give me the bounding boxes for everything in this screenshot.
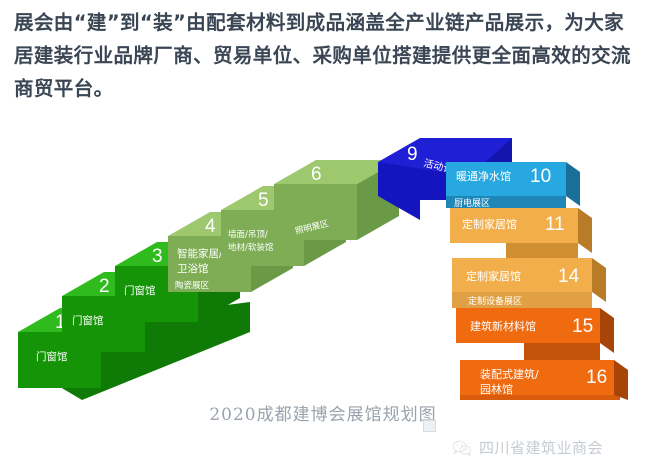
page-title: 展会由“建”到“装”由配套材料到成品涵盖全产业链产品展示，为大家居建装行业品牌厂… — [14, 6, 632, 105]
hall-number-5: 5 — [258, 190, 269, 211]
hall-label-10: 暖通净水馆 — [456, 169, 511, 183]
hall-label-16-line1: 装配式建筑/ — [480, 367, 539, 381]
hall-number-3: 3 — [152, 246, 163, 267]
hall-number-9: 9 — [407, 144, 418, 165]
hall-label-16-line2: 园林馆 — [480, 382, 513, 396]
footer-attribution: 四川省建筑业商会 — [452, 437, 603, 458]
hall-number-10: 10 — [530, 166, 551, 187]
wechat-icon — [452, 440, 472, 456]
hall-number-6: 6 — [311, 164, 322, 185]
hall-block-15[interactable]: 建筑新材料馆 15 — [456, 308, 614, 360]
hall-number-2: 2 — [99, 276, 110, 297]
hall-number-16: 16 — [586, 367, 607, 388]
hall-number-4: 4 — [205, 216, 216, 237]
hall-number-11: 11 — [545, 214, 565, 235]
hall-block-16[interactable]: 装配式建筑/ 园林馆 16 — [460, 360, 628, 400]
hall-number-14: 14 — [558, 266, 580, 287]
hall-sub-10: 厨电展区 — [454, 197, 490, 209]
diagram-caption: 2020成都建博会展馆规划图 — [0, 400, 646, 425]
hall-block-10[interactable]: 暖通净水馆 10 厨电展区 — [446, 162, 580, 209]
hall-block-14[interactable]: 定制家居馆 14 定制设备展区 — [452, 258, 606, 308]
hall-label-15: 建筑新材料馆 — [470, 319, 536, 333]
exhibition-plan-page: 展会由“建”到“装”由配套材料到成品涵盖全产业链产品展示，为大家居建装行业品牌厂… — [0, 0, 646, 465]
broken-image-placeholder-icon — [423, 420, 436, 432]
hall-label-3: 门窗馆 — [124, 284, 156, 297]
hall-label-11: 定制家居馆 — [462, 217, 517, 231]
hall-label-14: 定制家居馆 — [466, 269, 521, 283]
hall-number-15: 15 — [572, 316, 593, 337]
organization-name: 四川省建筑业商会 — [479, 437, 603, 458]
hall-label-2: 门窗馆 — [72, 314, 104, 327]
exhibition-hall-diagram: 1 门窗馆 2 门窗馆 3 门窗馆 — [0, 100, 646, 400]
hall-sub-14: 定制设备展区 — [468, 295, 522, 307]
hall-block-11[interactable]: 定制家居馆 11 — [450, 208, 592, 258]
